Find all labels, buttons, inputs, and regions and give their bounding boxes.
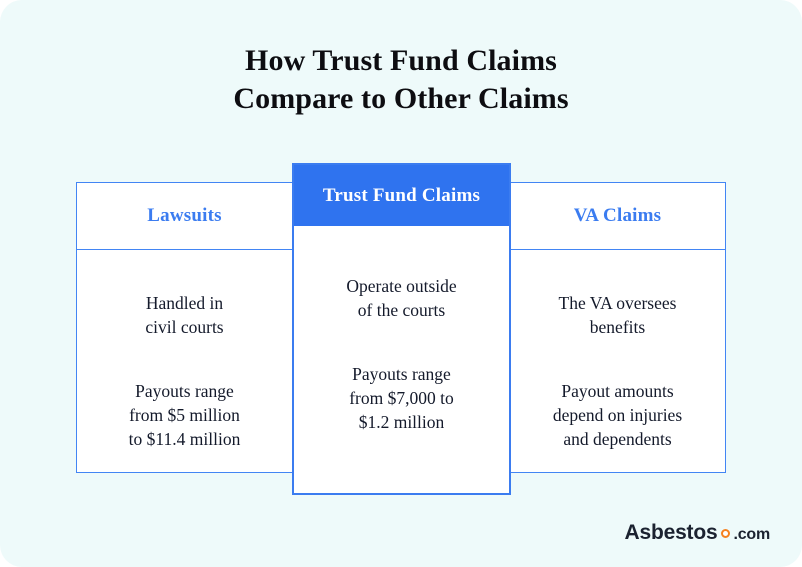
column-header-label: Trust Fund Claims (323, 185, 480, 207)
logo-wordmark: Asbestos (625, 521, 718, 545)
fact-item: Payouts range from $5 million to $11.4 m… (117, 379, 253, 451)
title-line-1: How Trust Fund Claims (0, 42, 802, 80)
column-body-va-claims: The VA oversees benefits Payout amounts … (510, 250, 725, 472)
fact-line: depend on injuries (553, 403, 682, 427)
fact-line: Operate outside (346, 274, 456, 298)
fact-line: civil courts (145, 315, 223, 339)
fact-line: of the courts (346, 298, 456, 322)
fact-line: from $5 million (129, 403, 241, 427)
fact-item: Operate outside of the courts (334, 274, 468, 322)
fact-line: Payouts range (349, 362, 454, 386)
page-title: How Trust Fund Claims Compare to Other C… (0, 42, 802, 118)
column-header-label: Lawsuits (147, 205, 221, 227)
column-header-va-claims: VA Claims (510, 183, 725, 250)
comparison-table: Lawsuits Handled in civil courts Payouts… (76, 163, 726, 495)
logo-tld: .com (733, 526, 770, 544)
fact-line: to $11.4 million (129, 427, 241, 451)
fact-item: Payouts range from $7,000 to $1.2 millio… (337, 362, 466, 434)
fact-item: Payout amounts depend on injuries and de… (541, 379, 694, 451)
column-header-lawsuits: Lawsuits (77, 183, 292, 250)
orange-ring-icon (721, 529, 730, 538)
column-header-label: VA Claims (574, 205, 662, 227)
column-body-lawsuits: Handled in civil courts Payouts range fr… (77, 250, 292, 472)
asbestos-com-logo: Asbestos .com (625, 521, 770, 545)
title-line-2: Compare to Other Claims (0, 80, 802, 118)
fact-line: The VA oversees (559, 291, 677, 315)
fact-line: Handled in (145, 291, 223, 315)
fact-line: $1.2 million (349, 410, 454, 434)
column-header-trust-fund-claims: Trust Fund Claims (294, 165, 509, 226)
fact-item: The VA oversees benefits (547, 291, 689, 339)
infographic-canvas: How Trust Fund Claims Compare to Other C… (0, 0, 802, 567)
fact-line: Payouts range (129, 379, 241, 403)
fact-line: and dependents (553, 427, 682, 451)
fact-line: from $7,000 to (349, 386, 454, 410)
fact-line: benefits (559, 315, 677, 339)
fact-item: Handled in civil courts (133, 291, 235, 339)
column-body-trust-fund-claims: Operate outside of the courts Payouts ra… (294, 226, 509, 493)
column-trust-fund-claims: Trust Fund Claims Operate outside of the… (292, 163, 511, 495)
column-lawsuits: Lawsuits Handled in civil courts Payouts… (76, 182, 293, 473)
column-va-claims: VA Claims The VA oversees benefits Payou… (509, 182, 726, 473)
fact-line: Payout amounts (553, 379, 682, 403)
